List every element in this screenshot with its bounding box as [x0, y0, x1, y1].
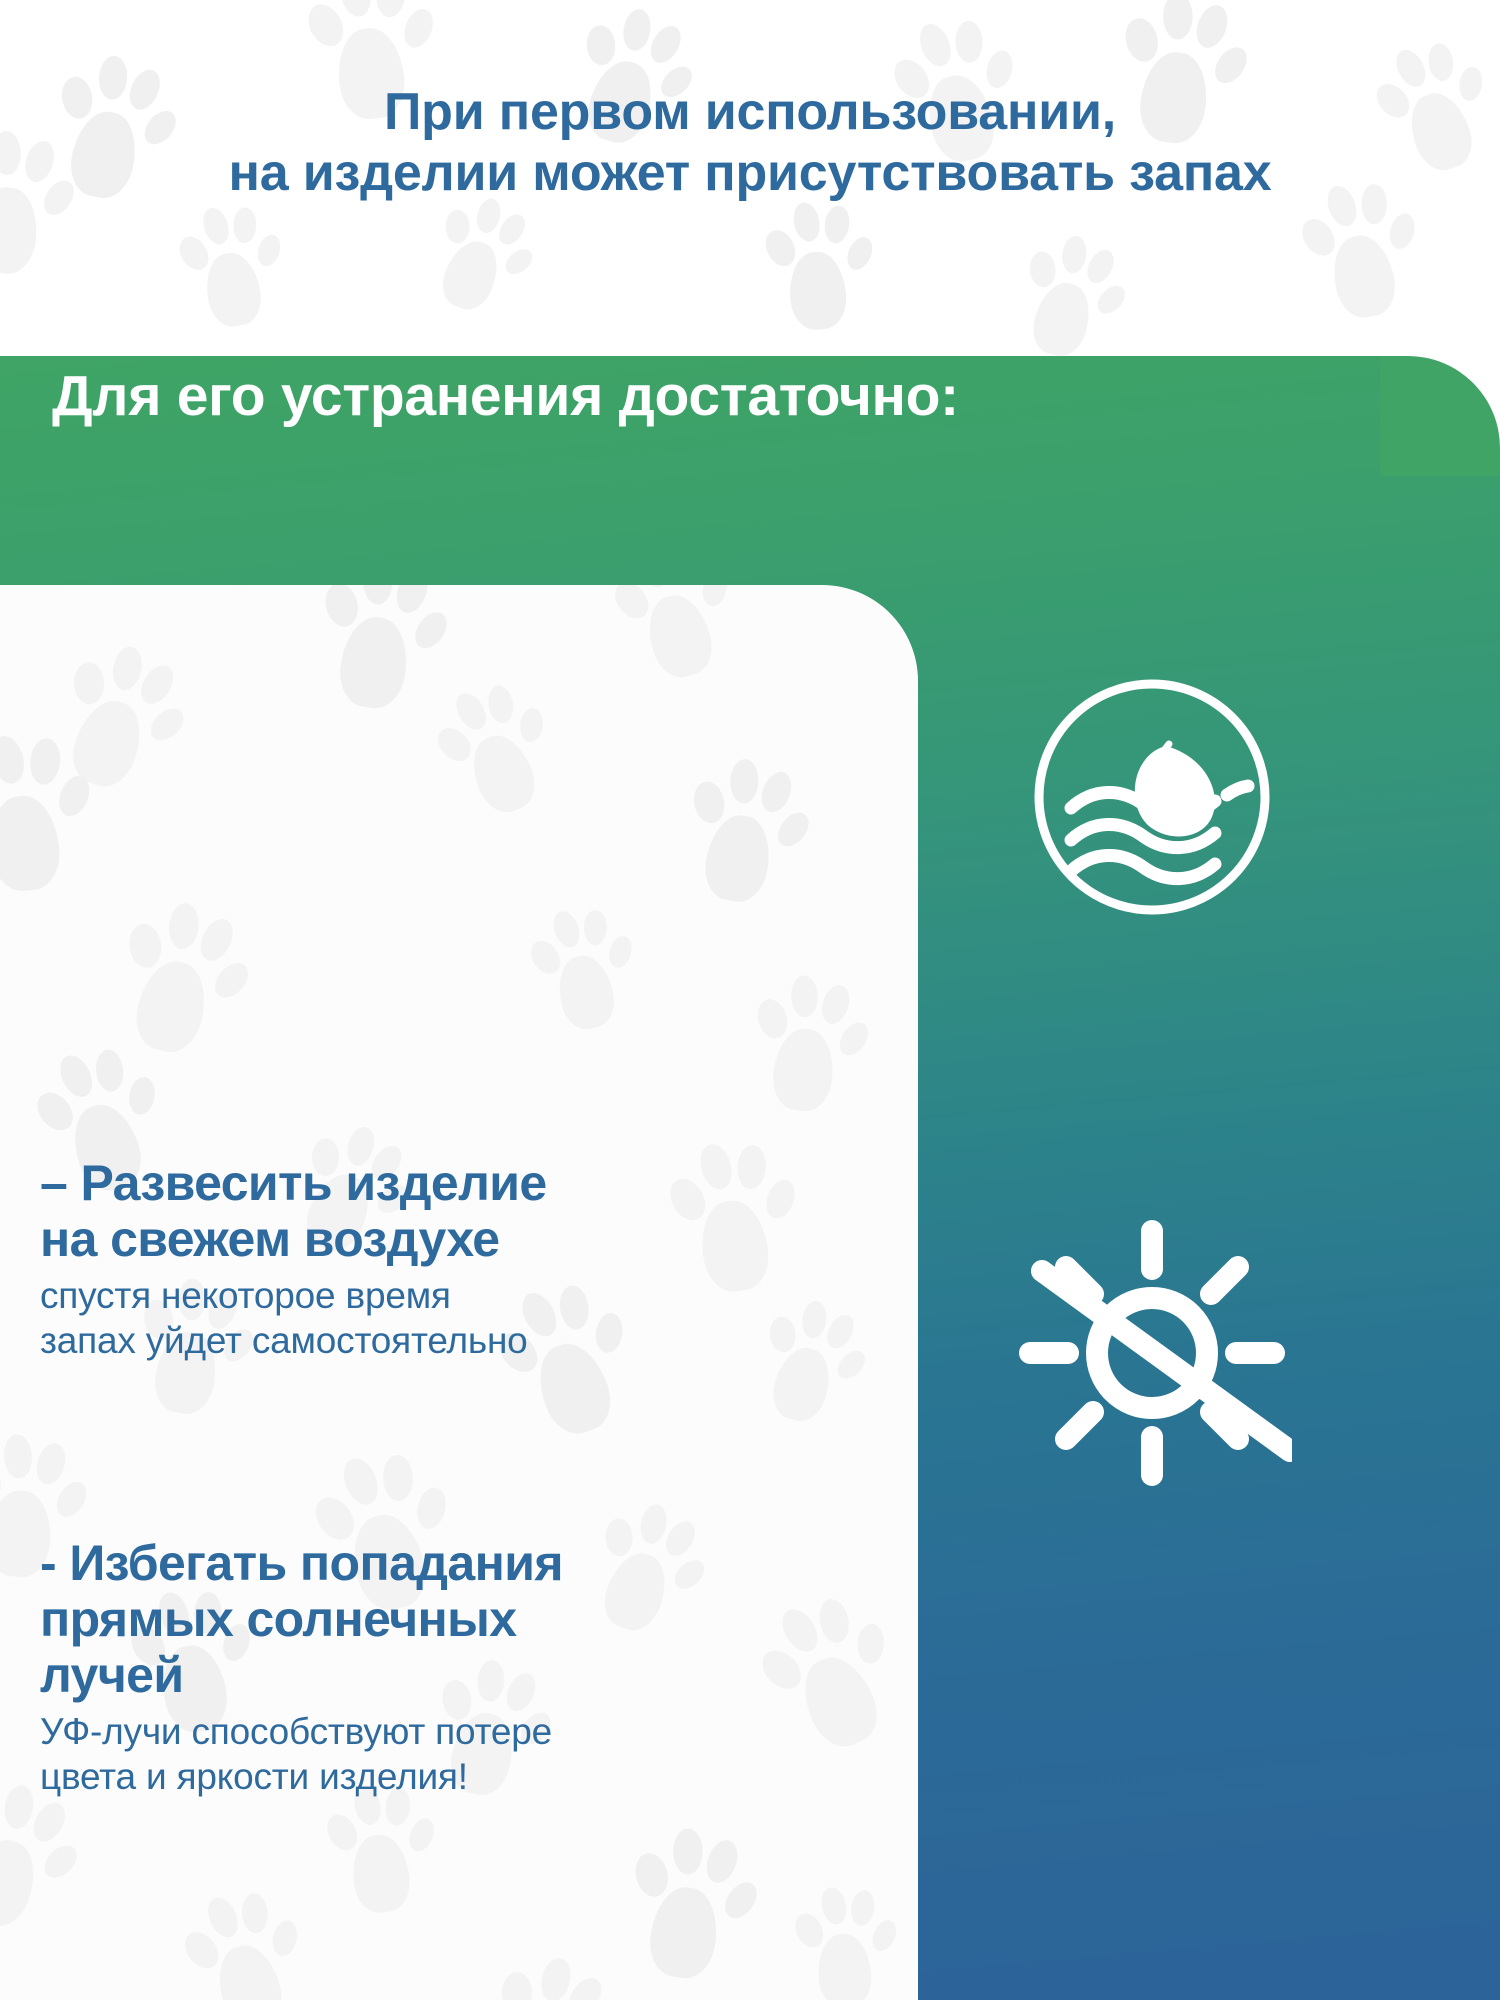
tip-2-headline-line-3: лучей	[40, 1647, 700, 1703]
tip-2-headline-line-2: прямых солнечных	[40, 1591, 700, 1647]
tip-1-subtext-line-2: запах уйдет самостоятельно	[40, 1318, 700, 1363]
paw-print-icon	[600, 585, 749, 692]
paw-print-icon	[39, 625, 203, 807]
page-title-line-2: на изделии может присутствовать запах	[0, 143, 1500, 204]
tip-block-avoid-sunlight: - Избегать попадания прямых солнечных лу…	[40, 1535, 700, 1799]
paw-print-icon	[520, 894, 646, 1040]
no-sun-icon	[1012, 1213, 1292, 1493]
tip-1-subtext-line-1: спустя некоторое время	[40, 1273, 700, 1318]
tip-2-subtext: УФ-лучи способствуют потере цвета и ярко…	[40, 1709, 700, 1799]
tip-2-subtext-line-2: цвета и яркости изделия!	[40, 1754, 700, 1799]
page-title-line-1: При первом использовании,	[0, 82, 1500, 143]
green-band-rounded-corner	[1380, 356, 1500, 476]
paw-print-icon	[464, 1935, 631, 2000]
leaf-waves-icon	[1027, 672, 1277, 922]
paw-print-icon	[790, 1878, 901, 2000]
tip-2-headline: - Избегать попадания прямых солнечных лу…	[40, 1535, 700, 1703]
tip-block-air-drying: – Развесить изделие на свежем воздухе сп…	[40, 1155, 700, 1363]
paw-print-icon	[170, 1874, 319, 2000]
tip-1-headline-line-1: – Развесить изделие	[40, 1155, 700, 1211]
tip-1-headline-line-2: на свежем воздухе	[40, 1211, 700, 1267]
tip-2-subtext-line-1: УФ-лучи способствуют потере	[40, 1709, 700, 1754]
paw-print-icon	[308, 585, 455, 719]
page-title: При первом использовании, на изделии мож…	[0, 82, 1500, 204]
paw-print-icon	[745, 1285, 878, 1436]
paw-print-icon	[745, 965, 873, 1119]
paw-print-icon	[0, 721, 99, 899]
tip-2-headline-line-1: - Избегать попадания	[40, 1535, 700, 1591]
tip-1-subtext: спустя некоторое время запах уйдет самос…	[40, 1273, 700, 1363]
paw-print-icon	[674, 745, 818, 914]
paw-print-icon	[102, 885, 262, 1068]
paw-print-icon	[420, 665, 571, 831]
tip-1-headline: – Развесить изделие на свежем воздухе	[40, 1155, 700, 1267]
section-heading: Для его устранения достаточно:	[52, 336, 1152, 456]
paw-print-icon	[740, 1574, 918, 1769]
content-panel: – Развесить изделие на свежем воздухе сп…	[0, 585, 918, 2000]
infographic-canvas: При первом использовании, на изделии мож…	[0, 0, 1500, 2000]
paw-print-icon	[618, 1815, 765, 1989]
